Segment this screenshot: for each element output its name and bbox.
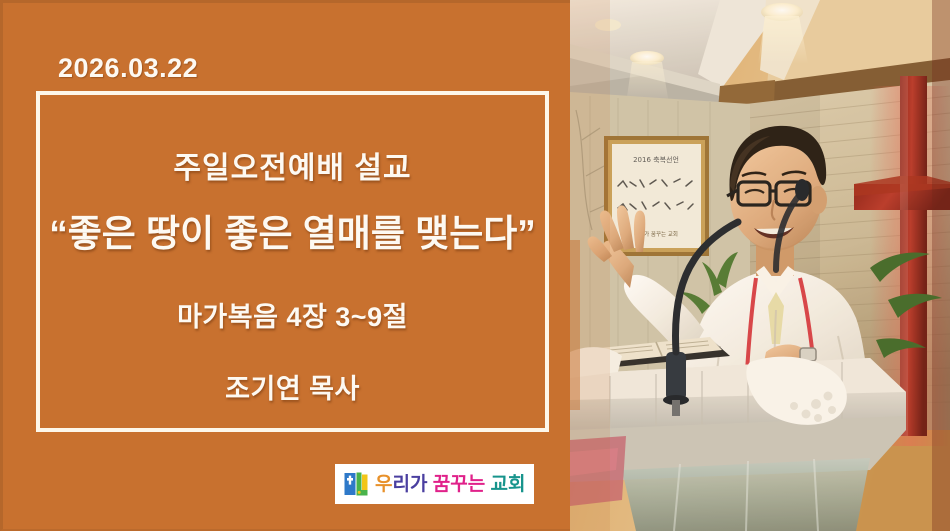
sermon-type-label: 주일오전예배 설교 (40, 143, 545, 187)
title-frame-border: 주일오전예배 설교 “좋은 땅이 좋은 열매를 맺는다” 마가복음 4장 3~9… (36, 91, 549, 432)
scripture-reference: 마가복음 4장 3~9절 (40, 295, 545, 334)
sermon-date: 2026.03.22 (58, 53, 198, 84)
sermon-announcement-slide: 2026.03.22 주일오전예배 설교 “좋은 땅이 좋은 열매를 맺는다” … (0, 0, 950, 531)
logo-word-accent: 우 (375, 474, 392, 495)
church-logo-text: 우리가 꿈꾸는 교회 (375, 475, 525, 494)
logo-word-one: 리가 (392, 474, 427, 495)
church-logo: 우리가 꿈꾸는 교회 (335, 464, 534, 504)
left-info-panel: 2026.03.22 주일오전예배 설교 “좋은 땅이 좋은 열매를 맺는다” … (0, 0, 570, 531)
preacher-name: 조기연 목사 (40, 367, 545, 406)
logo-word-three: 교회 (490, 474, 525, 495)
pastor-photo: 2016 축복선언 우리가 꿈꾸는 교회 (570, 0, 950, 531)
open-door-cross-icon (344, 472, 368, 497)
logo-word-two: 꿈꾸는 (433, 474, 485, 495)
sermon-title: “좋은 땅이 좋은 열매를 맺는다” (40, 203, 545, 257)
